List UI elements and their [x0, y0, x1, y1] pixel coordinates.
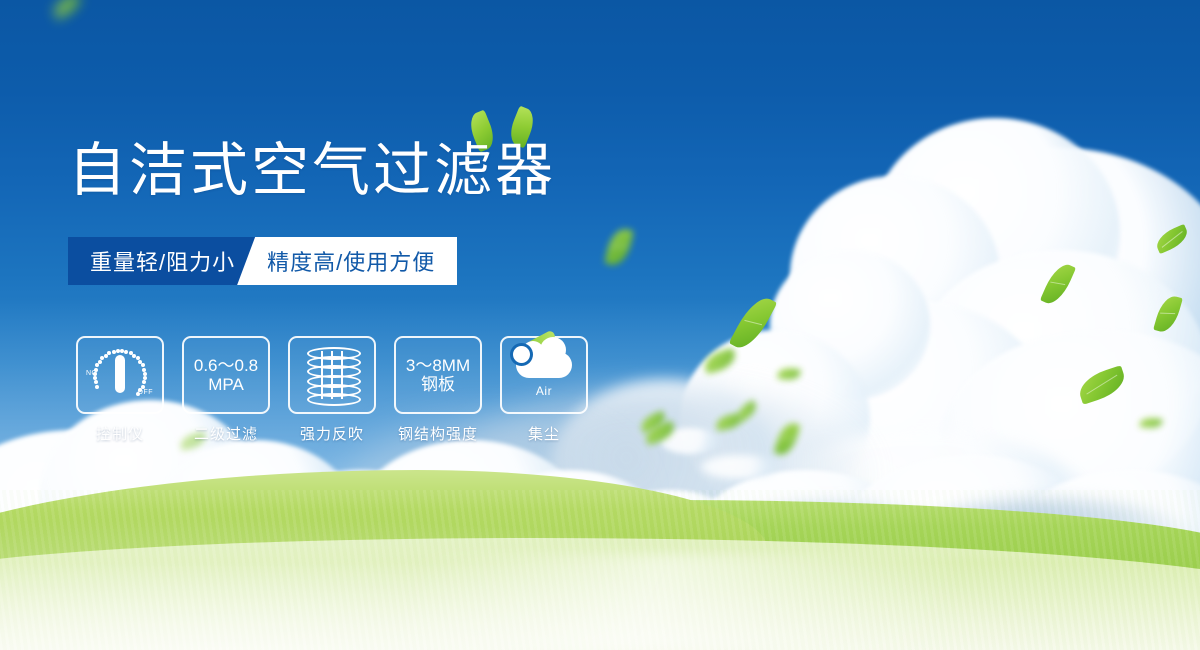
feature-item-pressure[interactable]: 0.6～0.8 MPA 二级过滤: [184, 336, 268, 444]
feature-list: NO OFF 控制仪 0.6～0.8 MPA 二级过滤: [78, 336, 586, 444]
pressure-unit: MPA: [194, 375, 258, 394]
subtitle-left: 重量轻/阻力小: [68, 237, 255, 285]
hero-banner: 自洁式空气过滤器 重量轻/阻力小 精度高/使用方便 NO OFF 控制仪 0.6…: [0, 0, 1200, 650]
steel-plate-text-icon: 3～8MM 钢板: [406, 356, 470, 394]
coil-icon: [307, 347, 357, 403]
feature-label: 控制仪: [96, 423, 144, 444]
sunlight-wash: [0, 500, 1200, 650]
feature-label: 强力反吹: [300, 423, 364, 444]
steel-thickness: 3～8MM: [406, 356, 470, 375]
steel-material: 钢板: [406, 375, 470, 394]
grass-field: [0, 490, 1200, 650]
feature-item-controller[interactable]: NO OFF 控制仪: [78, 336, 162, 444]
gauge-icon: NO OFF: [87, 346, 153, 404]
pressure-text-icon: 0.6～0.8 MPA: [194, 356, 258, 394]
cloud-wisp: [700, 455, 780, 479]
page-title: 自洁式空气过滤器: [68, 142, 556, 200]
feature-label: 钢结构强度: [398, 423, 478, 444]
feature-icon-box: 3～8MM 钢板: [394, 336, 482, 414]
feature-label: 集尘: [528, 423, 560, 444]
feature-item-blowback[interactable]: 强力反吹: [290, 336, 374, 444]
feature-item-steel[interactable]: 3～8MM 钢板 钢结构强度: [396, 336, 480, 444]
air-cloud-icon: Air: [513, 347, 575, 403]
feature-icon-box: Air: [500, 336, 588, 414]
subtitle-banner: 重量轻/阻力小 精度高/使用方便: [68, 237, 457, 285]
feature-label: 二级过滤: [194, 423, 258, 444]
air-label: Air: [536, 384, 552, 398]
subtitle-right: 精度高/使用方便: [237, 237, 457, 285]
pressure-value: 0.6～0.8: [194, 356, 258, 375]
feature-icon-box: [288, 336, 376, 414]
feature-icon-box: 0.6～0.8 MPA: [182, 336, 270, 414]
feature-icon-box: NO OFF: [76, 336, 164, 414]
feature-item-dust[interactable]: Air 集尘: [502, 336, 586, 444]
